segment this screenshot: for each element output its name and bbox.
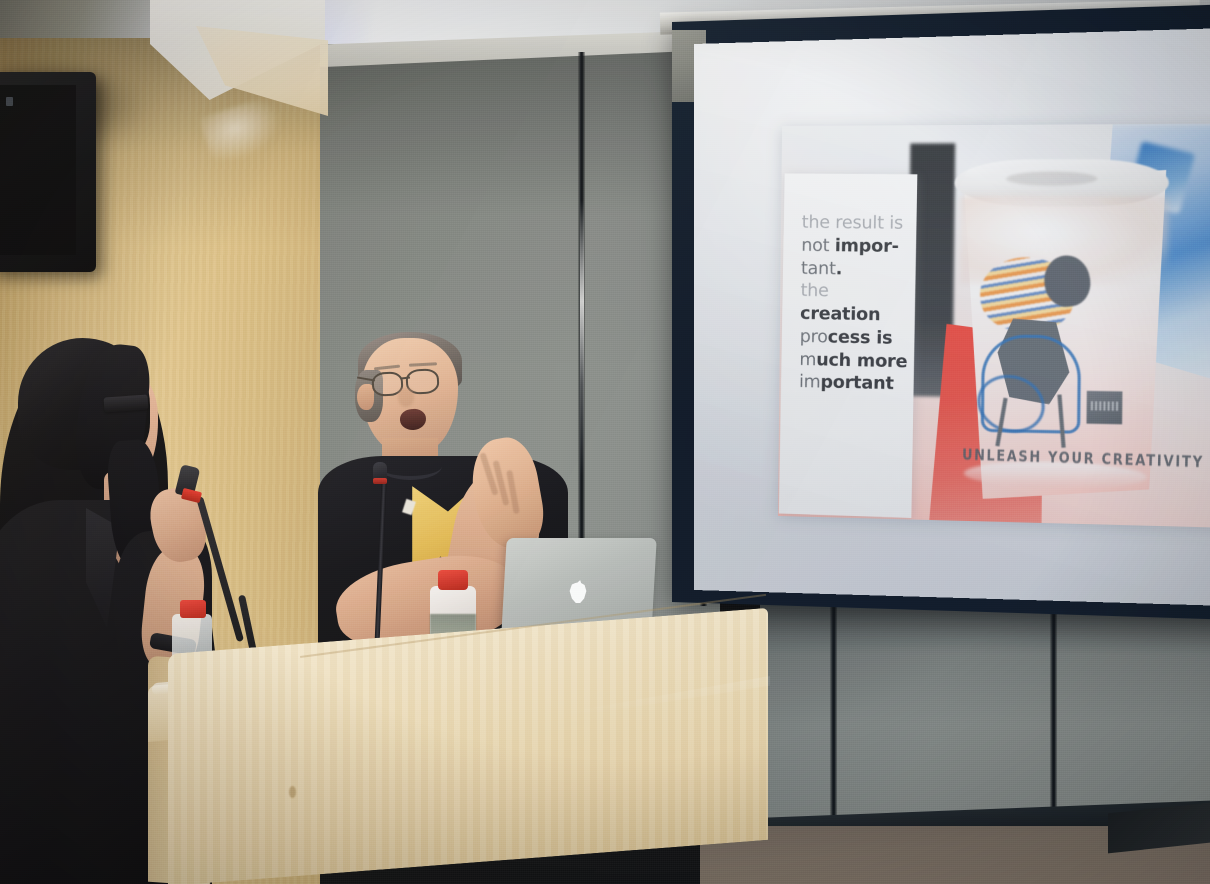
water-bottle-right-cap <box>438 570 468 590</box>
slide-quote-card: the result is not impor- tant. the creat… <box>779 174 918 518</box>
wall-seam-lower-left <box>830 588 837 824</box>
wall-seam-lower-right <box>1050 594 1057 830</box>
podium-wood-knot <box>289 786 296 798</box>
slide-quote-text: the result is not impor- tant. the creat… <box>799 212 915 397</box>
wall-speaker-face <box>0 85 76 255</box>
nestle-logo <box>1086 391 1122 424</box>
coffee-cup-lid-opening <box>1006 171 1097 185</box>
woman-glasses <box>104 394 149 412</box>
presentation-slide: UNLEASH YOUR CREATIVITY the result is no… <box>778 124 1210 528</box>
presentation-photo: UNLEASH YOUR CREATIVITY the result is no… <box>0 0 1210 884</box>
water-bottle-left-cap <box>180 600 206 618</box>
gooseneck-microphone-ring <box>373 478 387 484</box>
man-shirt-collar <box>378 452 442 480</box>
gray-wall-panel-right <box>760 580 1210 830</box>
wall-speaker-led <box>6 97 13 106</box>
man-nose <box>398 388 414 407</box>
